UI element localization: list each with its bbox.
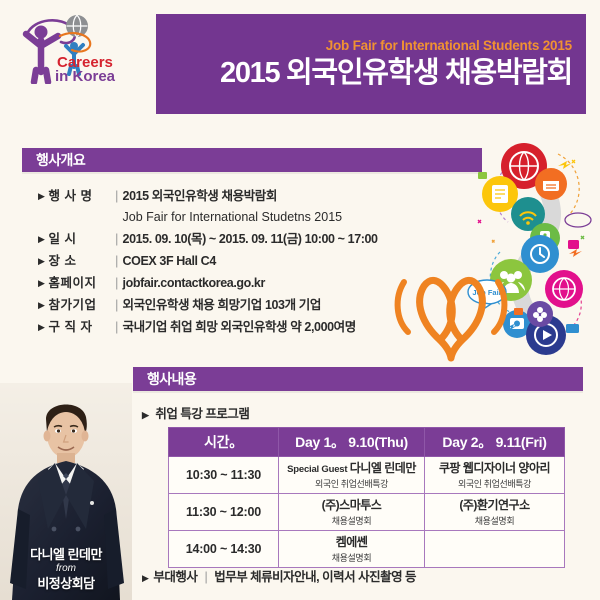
schedule-cell-day1: Special Guest 다니엘 린데만 외국인 취업선배특강 — [279, 457, 425, 494]
schedule-cell-main: (주)스마투스 — [281, 498, 422, 514]
overview-row-value: 2015. 09. 10(목) ~ 2015. 09. 11(금) 10:00 … — [123, 229, 468, 250]
banner-title: 2015 외국인유학생 채용박람회 — [220, 58, 572, 90]
schedule-cell-main: 켐에쎈 — [281, 535, 422, 551]
section-header-overview: 행사개요 — [22, 148, 482, 172]
program-subtitle-label: 취업 특강 프로그램 — [155, 407, 249, 421]
bullet-arrow-icon: ▶ — [142, 410, 148, 420]
side-events-label: 부대행사 — [153, 566, 197, 585]
section-header-content: 행사내용 — [133, 367, 583, 391]
table-row: 10:30 ~ 11:30 Special Guest 다니엘 린데만 외국인 … — [169, 457, 565, 494]
schedule-cell-main: Special Guest 다니엘 린데만 — [281, 461, 422, 477]
guest-photo-from: from — [0, 563, 132, 576]
overview-row-separator: | — [111, 273, 123, 294]
side-events-separator: | — [204, 570, 207, 584]
schedule-col-day1: Day 1。 9.10(Thu) — [279, 428, 425, 457]
schedule-cell-main: 쿠팡 웹디자이너 양아리 — [427, 461, 562, 477]
schedule-cell-sub: 외국인 취업선배특강 — [427, 478, 562, 490]
schedule-cell-time: 10:30 ~ 11:30 — [169, 457, 279, 494]
overview-row-label: 장 소 — [49, 251, 111, 272]
schedule-cell-sub: 채용설명회 — [281, 552, 422, 564]
table-row: 14:00 ~ 14:30 켐에쎈 채용설명회 — [169, 531, 565, 568]
overview-row: ▶ 행 사 명 | 2015 외국인유학생 채용박람회 Job Fair for… — [38, 186, 468, 228]
overview-row-label: 일 시 — [49, 229, 111, 250]
overview-row-label: 홈페이지 — [49, 273, 111, 294]
schedule-cell-title: (주)환기연구소 — [459, 498, 529, 512]
overview-row-value-sub: Job Fair for International Studetns 2015 — [123, 207, 468, 228]
schedule-cell-title: 켐에쎈 — [336, 535, 368, 549]
banner-subtitle: Job Fair for International Students 2015 — [326, 38, 572, 54]
schedule-cell-day2: 쿠팡 웹디자이너 양아리 외국인 취업선배특강 — [425, 457, 565, 494]
poster-root: Careers in Korea Job Fair for Internatio… — [0, 0, 600, 600]
overview-row-value: COEX 3F Hall C4 — [123, 251, 468, 272]
schedule-cell-sub: 채용설명회 — [427, 515, 562, 527]
overview-row-value-main: 2015 외국인유학생 채용박람회 — [123, 189, 277, 203]
side-events-value: 법무부 체류비자안내, 이력서 사진촬영 등 — [214, 566, 416, 585]
schedule-cell-day2-empty — [425, 531, 565, 568]
schedule-col-time: 시간。 — [169, 428, 279, 457]
bullet-arrow-icon: ▶ — [38, 295, 45, 316]
schedule-cell-day1: 켐에쎈 채용설명회 — [279, 531, 425, 568]
overview-row-separator: | — [111, 229, 123, 250]
schedule-table: 시간。 Day 1。 9.10(Thu) Day 2。 9.11(Fri) 10… — [168, 427, 565, 568]
overview-row-separator: | — [111, 295, 123, 316]
overview-row-label: 참가기업 — [49, 295, 111, 316]
schedule-cell-main: (주)환기연구소 — [427, 498, 562, 514]
schedule-cell-title: 쿠팡 웹디자이너 양아리 — [439, 461, 550, 475]
bullet-arrow-icon: ▶ — [38, 317, 45, 338]
flower-badge-icon — [527, 301, 553, 327]
section-header-overview-label: 행사개요 — [36, 150, 85, 170]
overview-row-value: 2015 외국인유학생 채용박람회 Job Fair for Internati… — [123, 186, 468, 228]
schedule-col-day2: Day 2。 9.11(Fri) — [425, 428, 565, 457]
overview-row: ▶ 장 소 | COEX 3F Hall C4 — [38, 251, 468, 272]
overview-row-separator: | — [111, 186, 123, 207]
overview-row: ▶ 일 시 | 2015. 09. 10(목) ~ 2015. 09. 11(금… — [38, 229, 468, 250]
program-subtitle: ▶ 취업 특강 프로그램 — [142, 403, 249, 422]
schedule-cell-time: 11:30 ~ 12:00 — [169, 494, 279, 531]
schedule-cell-day1: (주)스마투스 채용설명회 — [279, 494, 425, 531]
guest-photo-name: 다니엘 린데만 — [0, 547, 132, 563]
bullet-arrow-icon: ▶ — [38, 229, 45, 250]
bullet-arrow-icon: ▶ — [38, 273, 45, 294]
orange-people-ribbon-icon — [392, 276, 510, 362]
overview-row-separator: | — [111, 251, 123, 272]
schedule-cell-sub: 외국인 취업선배특강 — [281, 478, 422, 490]
logo-text-in-korea: in Korea — [55, 68, 116, 84]
guest-photo-show: 비정상회담 — [0, 576, 132, 592]
guest-speaker-photo: 다니엘 린데만 from 비정상회담 — [0, 383, 132, 600]
side-events-row: ▶ 부대행사 | 법무부 체류비자안내, 이력서 사진촬영 등 — [142, 566, 416, 585]
header-banner: Job Fair for International Students 2015… — [156, 14, 586, 114]
schedule-cell-sub: 채용설명회 — [281, 515, 422, 527]
schedule-cell-title: 다니엘 린데만 — [350, 461, 416, 475]
schedule-header-row: 시간。 Day 1。 9.10(Thu) Day 2。 9.11(Fri) — [169, 428, 565, 457]
overview-row-label: 행 사 명 — [49, 186, 111, 207]
overview-row-separator: | — [111, 317, 123, 338]
careers-in-korea-logo: Careers in Korea — [14, 12, 118, 84]
schedule-cell-time: 14:00 ~ 14:30 — [169, 531, 279, 568]
schedule-cell-day2: (주)환기연구소 채용설명회 — [425, 494, 565, 531]
overview-row-label: 구 직 자 — [49, 317, 111, 338]
schedule-cell-prefix: Special Guest — [287, 464, 350, 475]
schedule-cell-title: (주)스마투스 — [322, 498, 382, 512]
table-row: 11:30 ~ 12:00 (주)스마투스 채용설명회 (주)환기연구소 채용설… — [169, 494, 565, 531]
bullet-arrow-icon: ▶ — [142, 573, 148, 584]
guest-photo-caption: 다니엘 린데만 from 비정상회담 — [0, 547, 132, 592]
bullet-arrow-icon: ▶ — [38, 251, 45, 272]
bullet-arrow-icon: ▶ — [38, 186, 45, 207]
section-header-content-label: 행사내용 — [147, 369, 196, 389]
